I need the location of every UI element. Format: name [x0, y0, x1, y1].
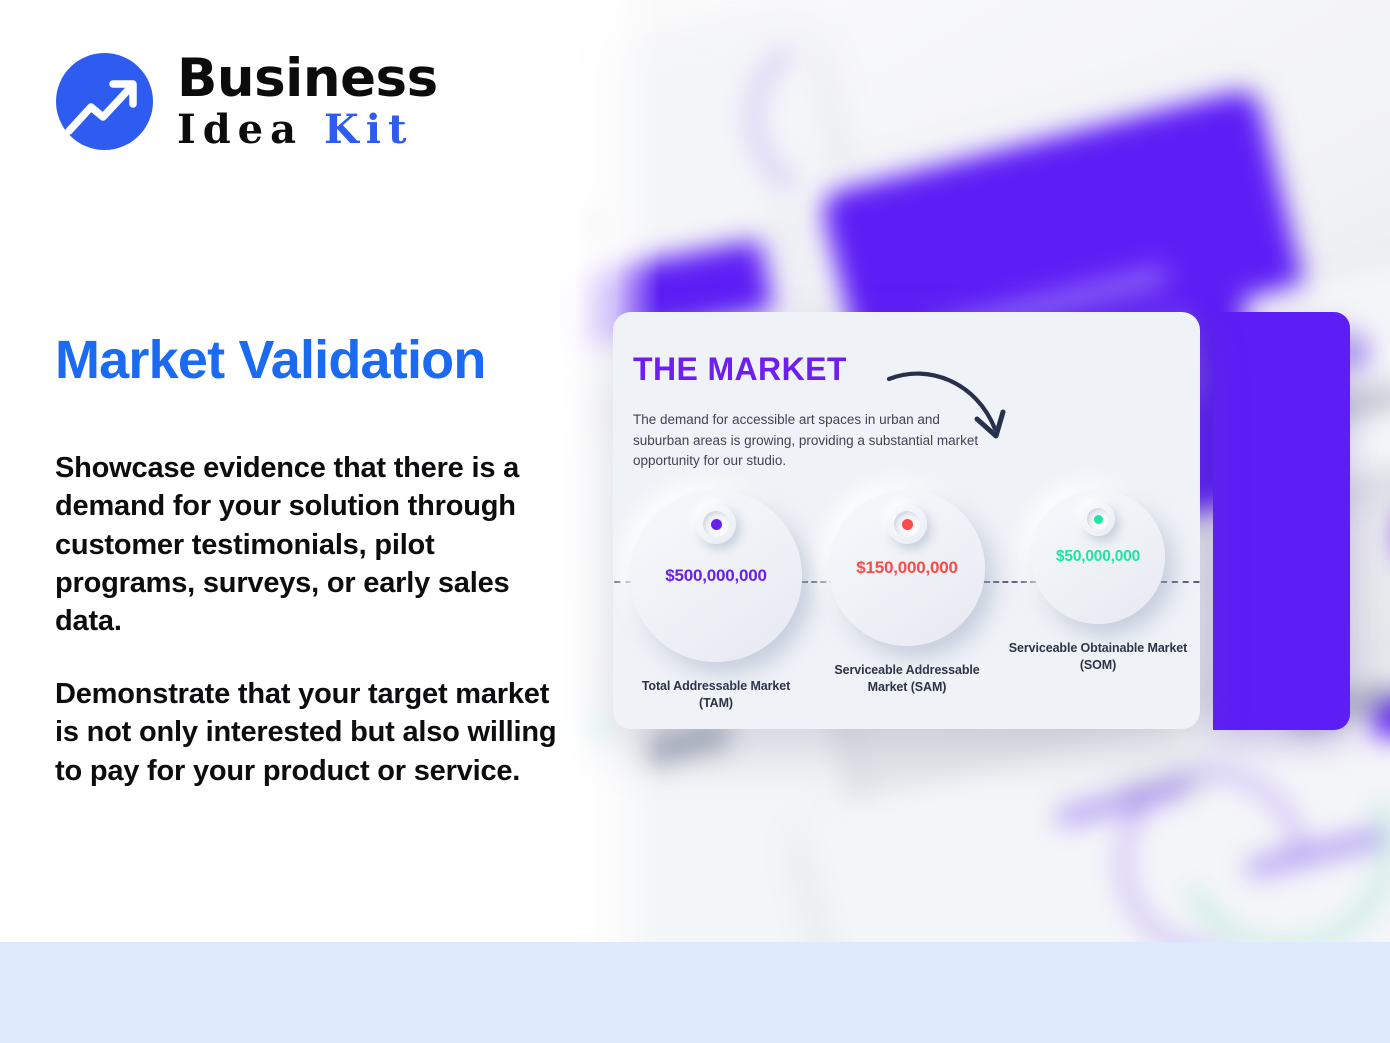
bubble-knob-inner — [894, 511, 920, 537]
bubble-knob — [696, 504, 736, 544]
bubble-knob — [887, 504, 927, 544]
bubble-dot-icon — [1094, 515, 1103, 524]
purple-accent-block — [1213, 312, 1350, 730]
brand-name-idea: Idea — [177, 106, 324, 153]
bubble-circle: $50,000,000 — [1031, 490, 1165, 624]
bubble-value: $50,000,000 — [1056, 548, 1140, 566]
bubble-circle: $150,000,000 — [829, 490, 985, 646]
slide-canvas: Business Idea Kit Market Validation Show… — [0, 0, 1390, 1043]
brand-name-line2: Idea Kit — [177, 110, 438, 150]
bubble-label: Serviceable Obtainable Market (SOM) — [1007, 640, 1189, 674]
body-paragraph-2: Demonstrate that your target market is n… — [55, 675, 575, 790]
market-bubble-sam[interactable]: $150,000,000 Serviceable Addressable Mar… — [816, 490, 998, 712]
bottom-accent-strip — [0, 942, 1390, 1043]
growth-arrow-circle-icon — [56, 53, 153, 150]
market-bubble-som[interactable]: $50,000,000 Serviceable Obtainable Marke… — [1007, 490, 1189, 712]
body-paragraph-1: Showcase evidence that there is a demand… — [55, 449, 575, 640]
bubble-circle: $500,000,000 — [630, 490, 802, 662]
bubble-knob-inner — [1087, 508, 1109, 530]
bubble-dot-icon — [902, 519, 913, 530]
curved-arrow-down-right-icon — [885, 357, 1025, 462]
bubble-label: Total Addressable Market (TAM) — [625, 678, 807, 712]
brand-name-line1: Business — [177, 52, 438, 105]
bubble-label: Serviceable Addressable Market (SAM) — [816, 662, 998, 696]
page-title: Market Validation — [55, 332, 486, 389]
bubble-knob-inner — [703, 511, 729, 537]
market-bubbles: $500,000,000 Total Addressable Market (T… — [613, 490, 1200, 712]
market-card: THE MARKET The demand for accessible art… — [613, 312, 1200, 729]
brand-logo[interactable]: Business Idea Kit — [56, 52, 438, 150]
bubble-knob — [1081, 502, 1115, 536]
brand-wordmark: Business Idea Kit — [177, 52, 438, 150]
brand-name-kit: Kit — [324, 106, 413, 153]
bubble-dot-icon — [711, 519, 722, 530]
market-card-title: THE MARKET — [633, 351, 847, 388]
market-bubble-tam[interactable]: $500,000,000 Total Addressable Market (T… — [625, 490, 807, 712]
bubble-value: $150,000,000 — [856, 558, 958, 578]
bubble-value: $500,000,000 — [665, 566, 767, 586]
